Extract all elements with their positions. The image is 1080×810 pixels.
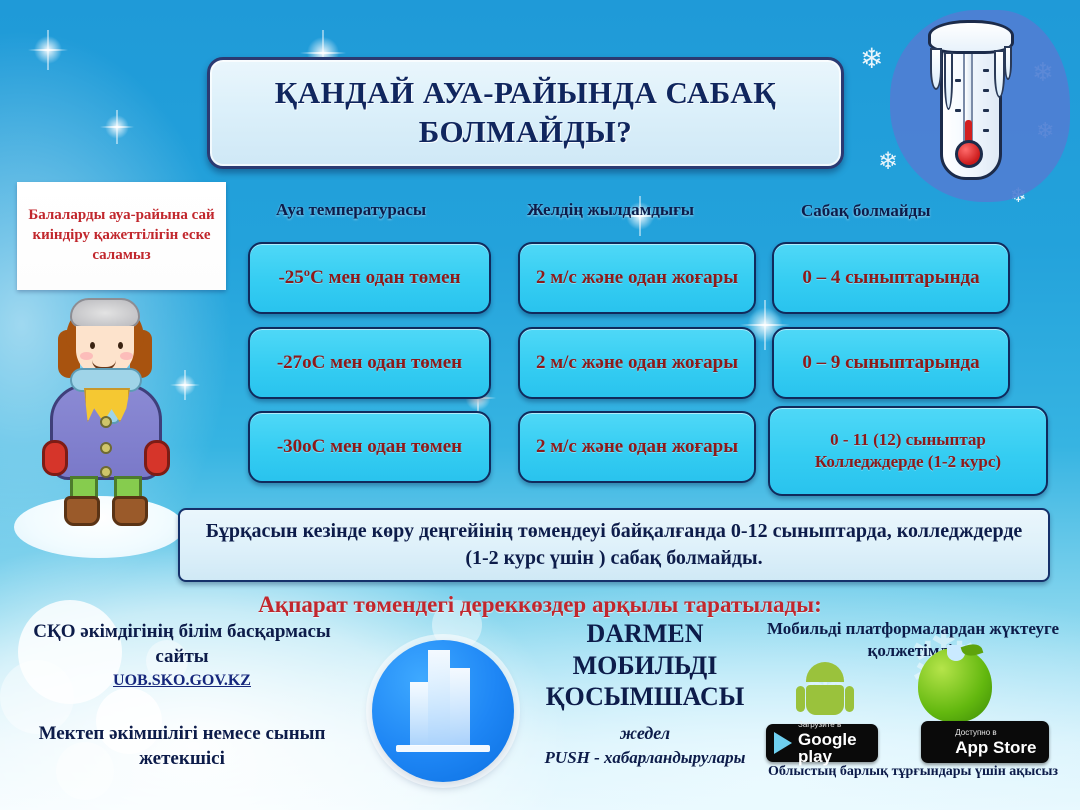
child-cheek-right [120, 352, 133, 360]
bottom-section-heading: Ақпарат төмендегі дереккөздер арқылы тар… [0, 592, 1080, 618]
column-header-no-classes: Сабақ болмайды [801, 201, 931, 221]
snowflake-icon: ❄ [860, 46, 883, 74]
cell-text: 2 м/с және одан жоғары [536, 435, 738, 459]
table-cell-classes: 0 – 9 сыныптарында [772, 327, 1010, 399]
cell-text: 0 - 11 (12) сыныптар Колледждерде (1-2 к… [778, 429, 1038, 473]
free-access-note: Облыстың барлық тұрғындары үшін ақысыз [748, 763, 1078, 781]
android-body [806, 685, 844, 715]
darmen-app-text: DARMEN МОБИЛЬДІ ҚОСЫМШАСЫ жедел PUSH - х… [530, 618, 760, 768]
cell-text: -25ºС мен одан төмен [278, 266, 460, 290]
table-cell-temperature: -27оС мен одан төмен [248, 327, 491, 399]
logo-tower [450, 668, 470, 746]
table-cell-wind: 2 м/с және одан жоғары [518, 327, 756, 399]
source-school-label: Мектеп әкімшілігі немесе сынып жетекшісі [22, 722, 342, 771]
logo-tower [428, 650, 450, 746]
sparkle-icon [28, 30, 68, 70]
google-play-badge-label: Google play [798, 731, 870, 765]
table-cell-temperature: -25ºС мен одан төмен [248, 242, 491, 314]
coat-button [100, 466, 112, 478]
cell-text: 2 м/с және одан жоғары [536, 351, 738, 375]
left-sources-block: СҚО әкімдігінің білім басқармасы сайты U… [22, 620, 342, 772]
child-illustration [30, 300, 180, 520]
reminder-text: Балаларды ауа-райына сай киіндіру қажетт… [17, 206, 226, 265]
android-arm-right [845, 686, 854, 712]
snowflake-icon: ❄ [878, 150, 898, 174]
thermometer-bulb [955, 140, 983, 168]
hat-fur-trim [70, 298, 140, 328]
note-bar: Бұрқасын кезінде көру деңгейінің төменде… [178, 508, 1050, 582]
page-title-text: ҚАНДАЙ АУА-РАЙЫНДА САБАҚ БОЛМАЙДЫ? [210, 74, 841, 152]
android-head [806, 662, 844, 682]
source-site-label: СҚО әкімдігінің білім басқармасы сайты [33, 621, 331, 667]
table-cell-classes: 0 – 4 сыныптарында [772, 242, 1010, 314]
infographic-poster: ❄ ❄ ❄ ❄ ❄ ❄ ❄ ҚАНДАЙ АУА-РАЙЫНДА САБАҚ Б… [0, 0, 1080, 810]
icicle-icon [944, 52, 953, 110]
column-header-temperature: Ауа температурасы [276, 200, 426, 220]
google-play-badge-small-text: Загрузите в [798, 721, 870, 729]
table-cell-wind: 2 м/с және одан жоғары [518, 242, 756, 314]
google-play-icon [774, 732, 792, 754]
table-cell-temperature: -30оС мен одан төмен [248, 411, 491, 483]
apple-icon [918, 648, 992, 722]
child-eye-right [118, 342, 123, 349]
app-name: DARMEN МОБИЛЬДІ ҚОСЫМШАСЫ [530, 618, 760, 713]
darmen-app-logo [372, 640, 514, 782]
page-title: ҚАНДАЙ АУА-РАЙЫНДА САБАҚ БОЛМАЙДЫ? [207, 57, 844, 169]
platforms-text: Мобильді платформалардан жүктеуге қолжет… [748, 618, 1078, 662]
cell-text: -27оС мен одан төмен [277, 351, 462, 375]
coat-button [100, 416, 112, 428]
logo-base [396, 745, 490, 752]
app-store-badge-label: App Store [955, 739, 1036, 756]
cell-text: -30оС мен одан төмен [277, 435, 462, 459]
mitten-left [42, 440, 68, 476]
coat-button [100, 442, 112, 454]
icicle-icon [930, 48, 942, 90]
child-cheek-left [80, 352, 93, 360]
cell-text: 2 м/с және одан жоғары [536, 266, 738, 290]
cell-text: 0 – 4 сыныптарында [802, 266, 979, 290]
app-sub-1: жедел [530, 723, 760, 744]
mitten-right [144, 440, 170, 476]
boot-left [64, 496, 100, 526]
logo-tower [410, 682, 428, 746]
android-icon [796, 662, 854, 720]
app-store-badge-small-text: Доступно в [955, 729, 1036, 737]
apple-logo-icon:  [929, 729, 949, 755]
sparkle-icon [100, 110, 134, 144]
google-play-badge[interactable]: Загрузите в Google play [766, 724, 878, 762]
app-sub-2: PUSH - хабарландырулары [530, 748, 760, 768]
boot-right [112, 496, 148, 526]
table-cell-wind: 2 м/с және одан жоғары [518, 411, 756, 483]
child-eye-left [90, 342, 95, 349]
column-header-wind: Желдің жылдамдығы [527, 200, 694, 220]
cell-text: 0 – 9 сыныптарында [802, 351, 979, 375]
app-store-badge[interactable]:  Доступно в App Store [921, 721, 1049, 763]
icicle-icon [1004, 46, 1012, 80]
android-arm-left [796, 686, 805, 712]
source-site-link[interactable]: UOB.SKO.GOV.KZ [22, 671, 342, 692]
reminder-banner: Балаларды ауа-райына сай киіндіру қажетт… [17, 182, 226, 290]
note-text: Бұрқасын кезінде көру деңгейінің төменде… [194, 518, 1034, 572]
table-cell-classes: 0 - 11 (12) сыныптар Колледждерде (1-2 к… [768, 406, 1048, 496]
